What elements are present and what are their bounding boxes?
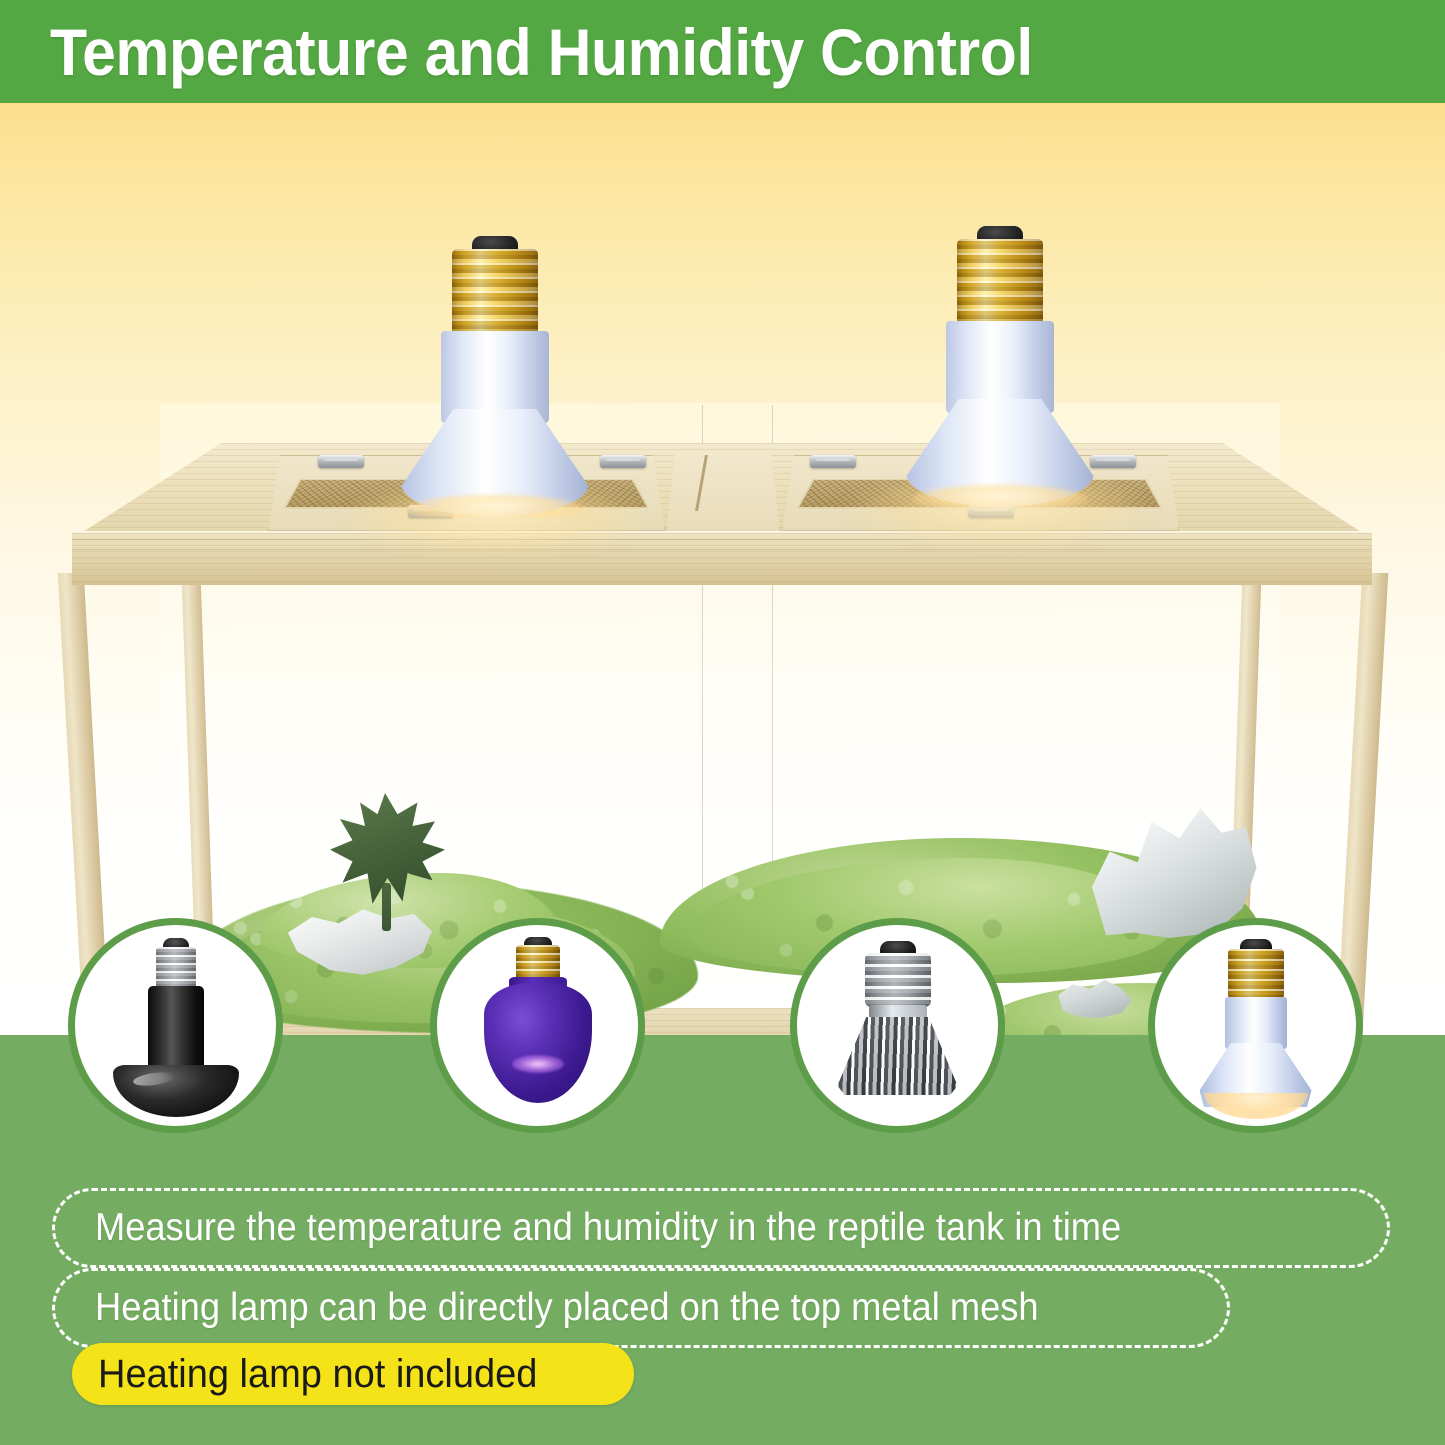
lamp-reflector-bell <box>906 399 1094 507</box>
lid-center-divider <box>666 451 780 533</box>
bulb-collar-ring <box>869 1005 927 1019</box>
hinge-icon <box>810 455 856 468</box>
emitter-silver-screw-base <box>156 947 196 989</box>
feature-bullet-1-text: Measure the temperature and humidity in … <box>95 1206 1121 1250</box>
disclaimer-badge-text: Heating lamp not included <box>98 1352 537 1397</box>
feature-bullet-2: Heating lamp can be directly placed on t… <box>52 1268 1230 1348</box>
thumbnail-purple-uv-bulb[interactable] <box>430 918 645 1133</box>
r63-reflector-lamp-left <box>380 249 610 549</box>
bulb-silver-screw-base <box>865 953 931 1007</box>
bulb-gold-screw-base <box>1228 949 1284 999</box>
plant-stem <box>382 883 391 931</box>
wooden-reptile-tank <box>0 103 1445 1035</box>
r63-reflector-lamp-right <box>885 239 1115 539</box>
thumbnail-ceramic-heat-emitter[interactable] <box>68 918 283 1133</box>
bulb-filament-glow <box>512 1055 564 1073</box>
bulb-warm-glow <box>1204 1093 1308 1119</box>
emitter-black-disc <box>113 1065 239 1117</box>
product-marketing-image: Temperature and Humidity Control <box>0 0 1445 1445</box>
lid-front-face <box>72 533 1372 585</box>
feature-bullet-1: Measure the temperature and humidity in … <box>52 1188 1390 1268</box>
page-title: Temperature and Humidity Control <box>50 19 1033 85</box>
bulb-purple-glass <box>484 983 592 1103</box>
bulb-neck <box>1225 997 1287 1049</box>
lamp-reflector-bell <box>401 409 589 517</box>
lamp-gold-screw-base <box>957 239 1043 323</box>
feature-bullet-2-text: Heating lamp can be directly placed on t… <box>95 1286 1039 1330</box>
lamp-gold-screw-base <box>452 249 538 333</box>
header-banner: Temperature and Humidity Control <box>0 0 1445 103</box>
disclaimer-badge: Heating lamp not included <box>72 1343 634 1405</box>
thumbnail-chrome-reflector-bulb[interactable] <box>790 918 1005 1133</box>
thumbnail-r63-reflector-bulb[interactable] <box>1148 918 1363 1133</box>
wood-grain <box>72 533 1372 585</box>
hinge-icon <box>318 455 364 468</box>
bulb-faceted-reflector <box>838 1017 958 1095</box>
product-scene <box>0 103 1445 1035</box>
